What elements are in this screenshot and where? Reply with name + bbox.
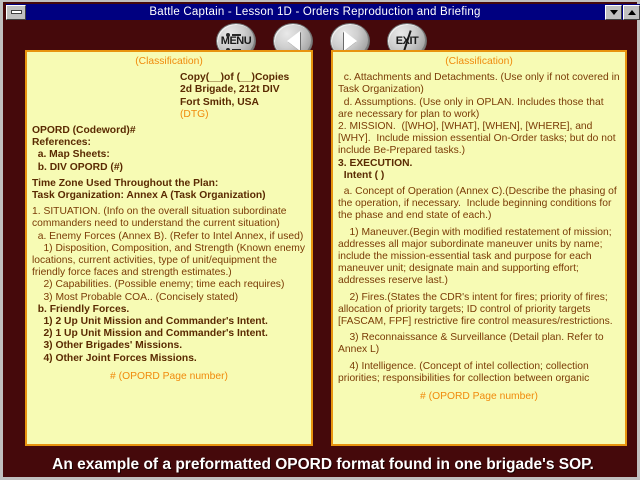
opord-line: Time Zone Used Throughout the Plan: [32,178,306,190]
opord-line: 2. MISSION. ([WHO], [WHAT], [WHEN], [WHE… [338,121,620,158]
minimize-button[interactable] [605,5,622,20]
window-frame: Battle Captain - Lesson 1D - Orders Repr… [0,0,640,480]
opord-line: 1. SITUATION. (Info on the overall situa… [32,206,306,230]
opord-line: 1) Disposition, Composition, and Strengt… [32,243,306,280]
opord-line: Task Organization: Annex A (Task Organiz… [32,190,306,202]
opord-line: 3) Most Probable COA.. (Concisely stated… [32,292,306,304]
opord-line: 3) Other Brigades' Missions. [32,340,306,352]
arrow-left-icon [287,31,300,51]
triangle-down-icon [610,10,618,15]
right-page-number: # (OPORD Page number) [338,391,620,403]
opord-line: 2) Capabilities. (Possible enemy; time e… [32,279,306,291]
opord-line: b. DIV OPORD (#) [32,162,306,174]
header-line: 2d Brigade, 212t DIV [180,84,306,96]
opord-line: References: [32,137,306,149]
opord-line: 2) Fires.(States the CDR's intent for fi… [338,292,620,329]
opord-line: OPORD (Codeword)# [32,125,306,137]
maximize-button[interactable] [623,5,640,20]
opord-line: 3. EXECUTION. [338,158,620,170]
opord-page-right: (Classification) c. Attachments and Deta… [331,50,627,446]
opord-line: a. Concept of Operation (Annex C).(Descr… [338,186,620,223]
left-header-block: Copy(__)of (__)Copies 2d Brigade, 212t D… [180,72,306,121]
minimize-box-icon [11,10,22,14]
header-line: Copy(__)of (__)Copies [180,72,306,84]
arrow-right-icon [344,31,357,51]
triangle-up-icon [628,10,636,15]
menu-button-label: MENU [221,36,251,47]
opord-line: 3) Reconnaissance & Surveillance (Detail… [338,332,620,356]
window-title: Battle Captain - Lesson 1D - Orders Repr… [26,6,604,18]
caption-text: An example of a preformatted OPORD forma… [6,451,640,479]
opord-page-left: (Classification) Copy(__)of (__)Copies 2… [25,50,313,446]
title-bar: Battle Captain - Lesson 1D - Orders Repr… [6,4,640,20]
opord-line: d. Assumptions. (Use only in OPLAN. Incl… [338,97,620,121]
opord-line: a. Map Sheets: [32,149,306,161]
opord-line: b. Friendly Forces. [32,304,306,316]
menu-dot-top-icon [226,33,230,37]
opord-line: Intent ( ) [338,170,620,182]
opord-line: 4) Intelligence. (Concept of intel colle… [338,361,620,385]
opord-line: c. Attachments and Detachments. (Use onl… [338,72,620,96]
opord-line: a. Enemy Forces (Annex B). (Refer to Int… [32,231,306,243]
left-classification: (Classification) [32,56,306,68]
opord-line: 1) Maneuver.(Begin with modified restate… [338,227,620,288]
left-page-number: # (OPORD Page number) [32,371,306,383]
window-controls [604,5,640,20]
opord-line: 2) 1 Up Unit Mission and Commander's Int… [32,328,306,340]
header-line: (DTG) [180,109,306,121]
opord-line: 1) 2 Up Unit Mission and Commander's Int… [32,316,306,328]
app-root: Battle Captain - Lesson 1D - Orders Repr… [0,0,640,480]
menu-line-top-icon [232,34,241,36]
right-classification: (Classification) [338,56,620,68]
header-line: Fort Smith, USA [180,97,306,109]
system-menu-button[interactable] [6,5,26,20]
opord-line: 4) Other Joint Forces Missions. [32,353,306,365]
